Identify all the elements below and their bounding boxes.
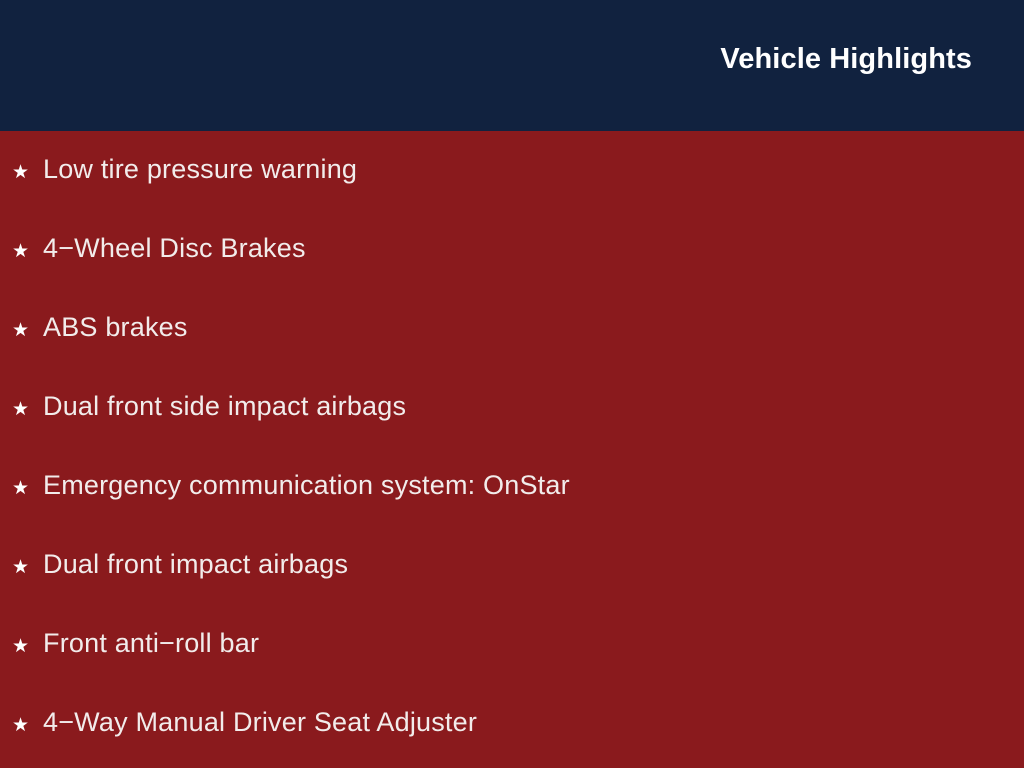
star-bullet-icon: ★ bbox=[12, 321, 43, 340]
list-item-label: ABS brakes bbox=[43, 311, 1024, 343]
list-item: ★ 4−Way Manual Driver Seat Adjuster bbox=[0, 706, 1024, 768]
list-item-label: Low tire pressure warning bbox=[43, 153, 1024, 185]
list-item: ★ Front anti−roll bar bbox=[0, 627, 1024, 706]
slide-body: ★ Low tire pressure warning ★ 4−Wheel Di… bbox=[0, 131, 1024, 768]
list-item-label: 4−Wheel Disc Brakes bbox=[43, 232, 1024, 264]
star-bullet-icon: ★ bbox=[12, 637, 43, 656]
list-item-label: 4−Way Manual Driver Seat Adjuster bbox=[43, 706, 1024, 738]
list-item: ★ ABS brakes bbox=[0, 311, 1024, 390]
star-bullet-icon: ★ bbox=[12, 479, 43, 498]
star-bullet-icon: ★ bbox=[12, 558, 43, 577]
star-bullet-icon: ★ bbox=[12, 163, 43, 182]
star-bullet-icon: ★ bbox=[12, 400, 43, 419]
slide-header: Vehicle Highlights bbox=[0, 0, 1024, 131]
star-bullet-icon: ★ bbox=[12, 716, 43, 735]
list-item-label: Emergency communication system: OnStar bbox=[43, 469, 1024, 501]
list-item: ★ Dual front impact airbags bbox=[0, 548, 1024, 627]
vehicle-highlights-slide: Vehicle Highlights ★ Low tire pressure w… bbox=[0, 0, 1024, 768]
vehicle-highlights-list: ★ Low tire pressure warning ★ 4−Wheel Di… bbox=[0, 153, 1024, 768]
list-item: ★ 4−Wheel Disc Brakes bbox=[0, 232, 1024, 311]
list-item: ★ Emergency communication system: OnStar bbox=[0, 469, 1024, 548]
list-item-label: Front anti−roll bar bbox=[43, 627, 1024, 659]
list-item: ★ Low tire pressure warning bbox=[0, 153, 1024, 232]
page-title: Vehicle Highlights bbox=[720, 42, 972, 76]
list-item-label: Dual front impact airbags bbox=[43, 548, 1024, 580]
list-item: ★ Dual front side impact airbags bbox=[0, 390, 1024, 469]
list-item-label: Dual front side impact airbags bbox=[43, 390, 1024, 422]
star-bullet-icon: ★ bbox=[12, 242, 43, 261]
